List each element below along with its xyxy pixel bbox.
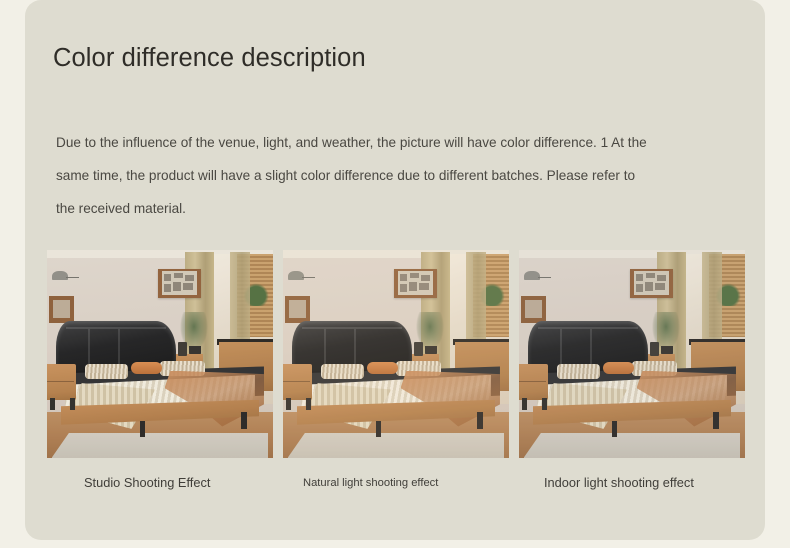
color-difference-description-text: Due to the influence of the venue, light… bbox=[56, 126, 656, 225]
bedroom-scene bbox=[283, 250, 509, 458]
bed-leg bbox=[241, 412, 246, 429]
headboard-seam bbox=[560, 329, 562, 369]
wall-art-collage bbox=[634, 271, 669, 295]
area-rug bbox=[524, 433, 741, 458]
nightstand-right-object bbox=[178, 342, 187, 357]
nightstand-right-object bbox=[414, 342, 423, 357]
headboard-seam bbox=[118, 329, 120, 369]
bedroom-scene bbox=[47, 250, 273, 458]
gallery-item-studio: Studio Shooting Effect bbox=[47, 250, 273, 496]
wall-lamp bbox=[524, 271, 551, 283]
wall-art-frame bbox=[158, 269, 201, 298]
photo-caption: Natural light shooting effect bbox=[283, 472, 509, 494]
nightstand-leg bbox=[70, 398, 75, 410]
bolster-pillow bbox=[367, 362, 399, 373]
area-rug bbox=[288, 433, 505, 458]
nightstand-leg bbox=[522, 398, 527, 410]
gallery-item-natural: Natural light shooting effect bbox=[283, 250, 509, 496]
nightstand-leg bbox=[306, 398, 311, 410]
bedroom-photo-studio[interactable] bbox=[47, 250, 273, 458]
area-rug bbox=[52, 433, 269, 458]
product-detail-page: Color difference description Due to the … bbox=[0, 0, 790, 548]
bed-leg bbox=[612, 421, 617, 438]
photo-caption: Studio Shooting Effect bbox=[47, 470, 273, 496]
bolster-pillow bbox=[131, 362, 163, 373]
page-title: Color difference description bbox=[53, 42, 473, 75]
wall-art-collage bbox=[398, 271, 433, 295]
small-picture-frame bbox=[521, 296, 546, 323]
lamp-shade bbox=[524, 271, 541, 280]
gallery-item-indoor: Indoor light shooting effect bbox=[519, 250, 745, 496]
wall-lamp bbox=[52, 271, 79, 283]
wall-lamp bbox=[288, 271, 315, 283]
headboard-seam bbox=[354, 329, 356, 369]
color-difference-panel: Color difference description Due to the … bbox=[25, 0, 765, 540]
nightstand-leg bbox=[50, 398, 55, 410]
wall-art-frame bbox=[394, 269, 437, 298]
lamp-arm bbox=[66, 277, 78, 278]
nightstand-left bbox=[519, 364, 548, 399]
photo-caption: Indoor light shooting effect bbox=[519, 470, 745, 496]
bedroom-photo-natural[interactable] bbox=[283, 250, 509, 458]
headboard-seam bbox=[324, 329, 326, 369]
lamp-arm bbox=[538, 277, 550, 278]
bed-leg bbox=[713, 412, 718, 429]
nightstand-left bbox=[283, 364, 312, 399]
lighting-comparison-gallery: Studio Shooting Effect bbox=[47, 250, 769, 496]
nightstand-leg bbox=[542, 398, 547, 410]
nightstand-left bbox=[47, 364, 76, 399]
lamp-shade bbox=[52, 271, 69, 280]
pillow bbox=[321, 364, 364, 379]
bed-leg bbox=[477, 412, 482, 429]
headboard-seam bbox=[88, 329, 90, 369]
pillow bbox=[85, 364, 128, 379]
headboard-seam bbox=[590, 329, 592, 369]
lamp-shade bbox=[288, 271, 305, 280]
pillow bbox=[557, 364, 600, 379]
bedroom-photo-indoor[interactable] bbox=[519, 250, 745, 458]
bed-leg bbox=[376, 421, 381, 438]
small-picture-frame bbox=[285, 296, 310, 323]
nightstand-right-object bbox=[650, 342, 659, 357]
nightstand-leg bbox=[286, 398, 291, 410]
small-picture-frame bbox=[49, 296, 74, 323]
wall-art-frame bbox=[630, 269, 673, 298]
bolster-pillow bbox=[603, 362, 635, 373]
wall-art-collage bbox=[162, 271, 197, 295]
bedroom-scene bbox=[519, 250, 745, 458]
bed-leg bbox=[140, 421, 145, 438]
lamp-arm bbox=[302, 277, 314, 278]
